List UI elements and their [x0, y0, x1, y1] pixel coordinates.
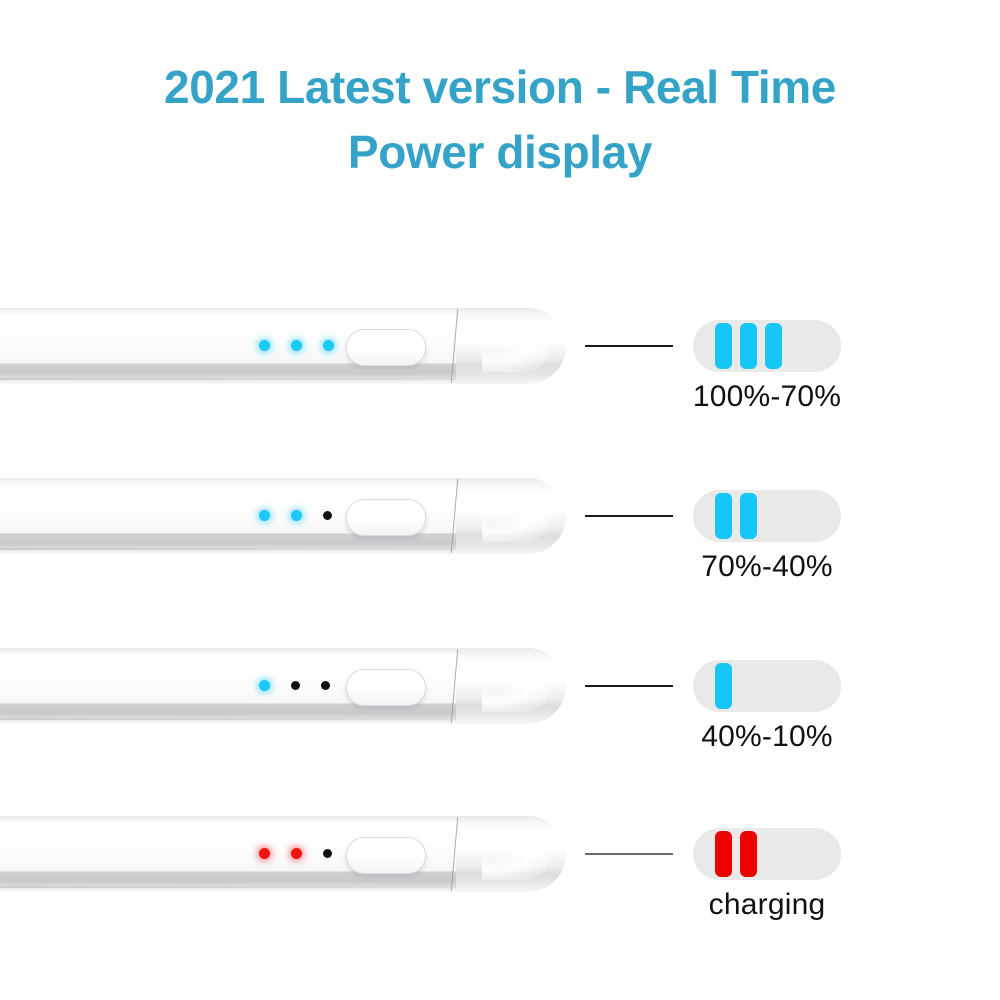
stylus-cap-highlight — [482, 660, 550, 712]
stylus-pen-illustration — [0, 478, 566, 558]
battery-level-badge — [693, 660, 841, 712]
battery-bar-3 — [765, 323, 782, 369]
stylus-pen-illustration — [0, 816, 566, 896]
battery-level-row: 40%-10% — [0, 640, 1000, 810]
battery-bar-2 — [740, 493, 757, 539]
connector-line — [585, 345, 673, 347]
led-dot-2 — [291, 340, 302, 351]
battery-bar-1 — [715, 831, 732, 877]
led-dot-2 — [291, 510, 302, 521]
stylus-power-button[interactable] — [346, 669, 426, 706]
led-dot-1 — [259, 510, 270, 521]
battery-level-row: charging — [0, 808, 1000, 978]
stylus-shadow-edge — [0, 378, 490, 380]
stylus-highlight — [0, 650, 518, 663]
battery-level-row: 100%-70% — [0, 300, 1000, 470]
stylus-pen-illustration — [0, 648, 566, 728]
battery-bar-2 — [740, 831, 757, 877]
stylus-led-indicator-group — [259, 680, 330, 691]
battery-level-label: 70%-40% — [640, 550, 894, 584]
stylus-highlight — [0, 818, 518, 831]
stylus-led-indicator-group — [259, 848, 332, 859]
battery-bar-1 — [715, 323, 732, 369]
led-dot-3 — [323, 511, 332, 520]
battery-level-label: 40%-10% — [640, 720, 894, 754]
battery-level-badge — [693, 490, 841, 542]
stylus-shadow-edge — [0, 548, 490, 550]
stylus-power-button[interactable] — [346, 837, 426, 874]
battery-level-badge — [693, 320, 841, 372]
stylus-power-button[interactable] — [346, 329, 426, 366]
battery-level-row: 70%-40% — [0, 470, 1000, 640]
battery-level-badge — [693, 828, 841, 880]
stylus-pen-illustration — [0, 308, 566, 388]
connector-line — [585, 515, 673, 517]
stylus-power-button[interactable] — [346, 499, 426, 536]
battery-bar-1 — [715, 493, 732, 539]
battery-level-label: charging — [640, 888, 894, 922]
page-title: 2021 Latest version - Real Time Power di… — [0, 55, 1000, 186]
led-dot-3 — [323, 340, 334, 351]
led-dot-1 — [259, 340, 270, 351]
stylus-highlight — [0, 480, 518, 493]
battery-bar-2 — [740, 323, 757, 369]
led-dot-1 — [259, 680, 270, 691]
stylus-cap-highlight — [482, 828, 550, 880]
connector-line — [585, 853, 673, 855]
led-dot-2 — [291, 848, 302, 859]
stylus-highlight — [0, 310, 518, 323]
led-dot-3 — [321, 681, 330, 690]
led-dot-3 — [323, 849, 332, 858]
stylus-cap-highlight — [482, 320, 550, 372]
stylus-shadow-edge — [0, 886, 490, 888]
battery-level-label: 100%-70% — [640, 380, 894, 414]
stylus-led-indicator-group — [259, 510, 332, 521]
stylus-led-indicator-group — [259, 340, 334, 351]
battery-bar-1 — [715, 663, 732, 709]
stylus-cap-highlight — [482, 490, 550, 542]
led-dot-2 — [291, 681, 300, 690]
stylus-shadow-edge — [0, 718, 490, 720]
connector-line — [585, 685, 673, 687]
led-dot-1 — [259, 848, 270, 859]
